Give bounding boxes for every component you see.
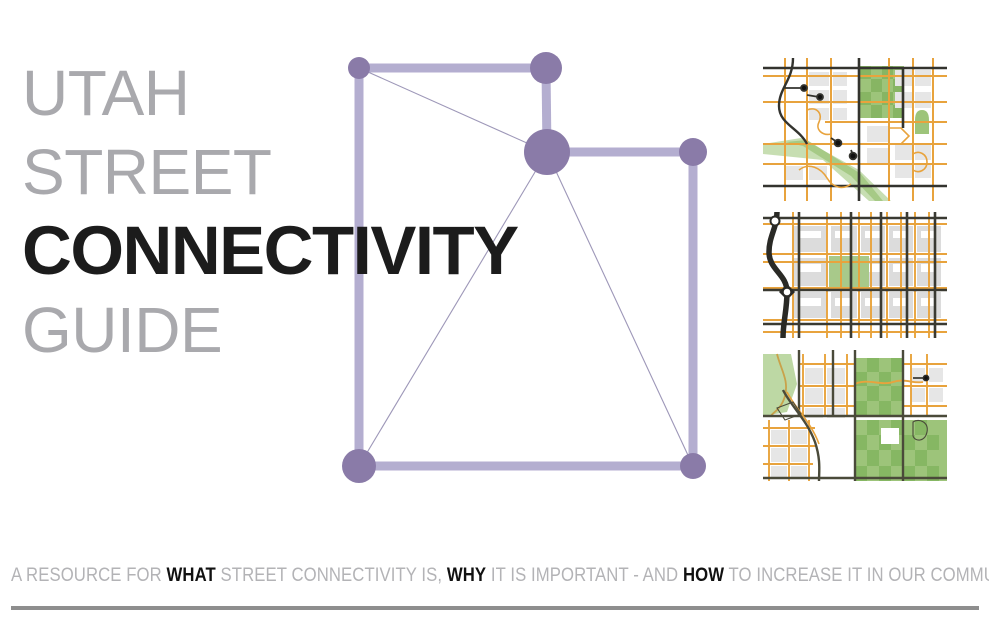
graph-thin-edges <box>359 68 693 466</box>
graph-node-bottom-right <box>680 453 706 479</box>
graph-thin-edge-top-left-to-hub-center <box>359 68 547 152</box>
tagline-emphasis-what: WHAT <box>167 565 216 586</box>
graph-node-hub-center <box>524 129 570 175</box>
tagline-part-3: IT IS IMPORTANT - AND <box>486 565 683 586</box>
graph-thin-edge-hub-center-to-bottom-left <box>359 152 547 466</box>
map-thumbnail-dense-grid[interactable] <box>763 212 947 338</box>
tagline-emphasis-how: HOW <box>683 565 724 586</box>
graph-nodes <box>342 52 707 483</box>
map-thumbnail-rural-edge[interactable] <box>763 350 947 481</box>
graph-node-bottom-left <box>342 449 376 483</box>
tagline-part-1: A RESOURCE FOR <box>11 565 167 586</box>
graph-node-top-right <box>530 52 562 84</box>
cover-page: UTAH STREET CONNECTIVITY GUIDE <box>0 0 989 629</box>
graph-node-top-left <box>348 57 370 79</box>
graph-node-mid-right <box>679 138 707 166</box>
map-thumbnail-stack <box>763 58 947 481</box>
graph-thin-edge-hub-center-to-bottom-right <box>547 152 693 466</box>
map-thumbnail-suburban-cul-de-sac[interactable] <box>763 58 947 201</box>
footer-divider <box>11 606 979 610</box>
tagline-part-4: TO INCREASE IT IN OUR COMMUNITIES <box>724 565 989 586</box>
graph-thick-edges <box>359 68 693 466</box>
tagline-part-2: STREET CONNECTIVITY IS, <box>216 565 447 586</box>
tagline-emphasis-why: WHY <box>447 565 486 586</box>
tagline: A RESOURCE FOR WHAT STREET CONNECTIVITY … <box>11 565 863 587</box>
